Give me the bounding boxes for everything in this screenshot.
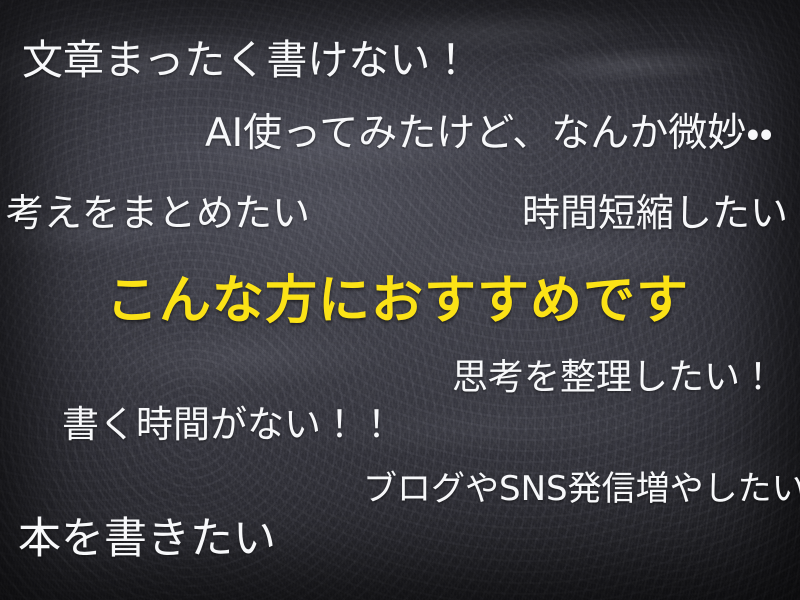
blackboard-slide: 文章まったく書けない！ AI使ってみたけど、なんか微妙・・ 考えをまとめたい 時… xyxy=(0,0,800,600)
pain-point-text-arrange-thinking: 思考を整理したい！ xyxy=(452,360,776,396)
slide-headline: こんな方におすすめです xyxy=(106,275,689,327)
pain-point-text-no-time-to-write: 書く時間がない！！ xyxy=(62,406,395,443)
pain-point-text-want-to-write-book: 本を書きたい xyxy=(18,518,276,561)
pain-point-text-ai-not-great: AI使ってみたけど、なんか微妙・・ xyxy=(205,114,773,153)
pain-point-text-organize-thoughts: 考えをまとめたい xyxy=(6,194,310,232)
pain-point-text-save-time: 時間短縮したい xyxy=(522,194,788,232)
pain-point-text-cannot-write: 文章まったく書けない！ xyxy=(22,40,471,81)
pain-point-text-grow-blog-sns: ブログやSNS発信増やしたい xyxy=(363,472,800,506)
